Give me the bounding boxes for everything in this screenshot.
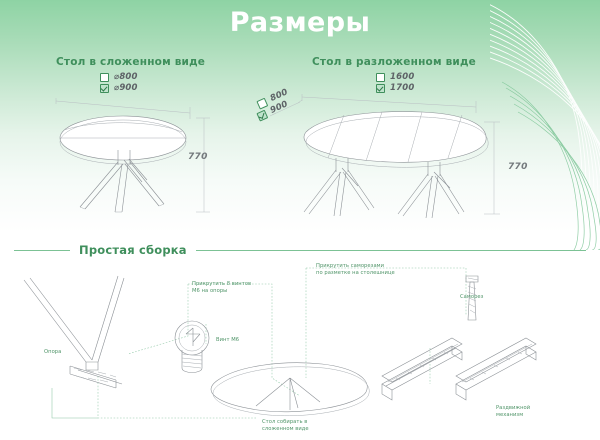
callout-mechanism: Раздвижной механизм xyxy=(496,405,530,418)
divider-rule-left xyxy=(14,250,70,251)
option-label: 1600 xyxy=(390,72,414,82)
assembly-divider: Простая сборка xyxy=(14,240,586,260)
unfolded-height-dimension: 770 xyxy=(508,162,528,172)
option-length-1600[interactable]: 1600 xyxy=(376,72,414,82)
callout-bolt: Винт М6 xyxy=(216,337,239,344)
callout-folded-note: Стол собирать в сложенном виде xyxy=(262,419,309,432)
section-heading-folded: Стол в сложенном виде xyxy=(56,56,205,68)
folded-height-dimension: 770 xyxy=(188,152,208,162)
page-title: Размеры xyxy=(0,6,600,40)
infographic-page: Размеры Стол в сложенном виде ⌀800 ⌀900 … xyxy=(0,0,600,440)
folded-table-drawing xyxy=(44,90,244,215)
checkbox-unchecked-icon[interactable] xyxy=(100,73,109,82)
checkbox-unchecked-icon[interactable] xyxy=(376,73,385,82)
option-label: ⌀800 xyxy=(114,72,138,82)
section-heading-unfolded: Стол в разложенном виде xyxy=(312,56,476,68)
divider-rule-right xyxy=(196,250,586,251)
callout-support: Опора xyxy=(44,349,61,356)
assembly-heading: Простая сборка xyxy=(70,243,196,257)
callout-screw: Саморез xyxy=(460,294,483,301)
unfolded-table-drawing xyxy=(262,88,532,218)
callout-screw-step: Прикрутить саморезами по разметке на сто… xyxy=(316,263,395,276)
option-diameter-800[interactable]: ⌀800 xyxy=(100,72,138,82)
callout-bolt-step: Прикрутить 8 винтов М6 на опоры xyxy=(192,281,251,294)
